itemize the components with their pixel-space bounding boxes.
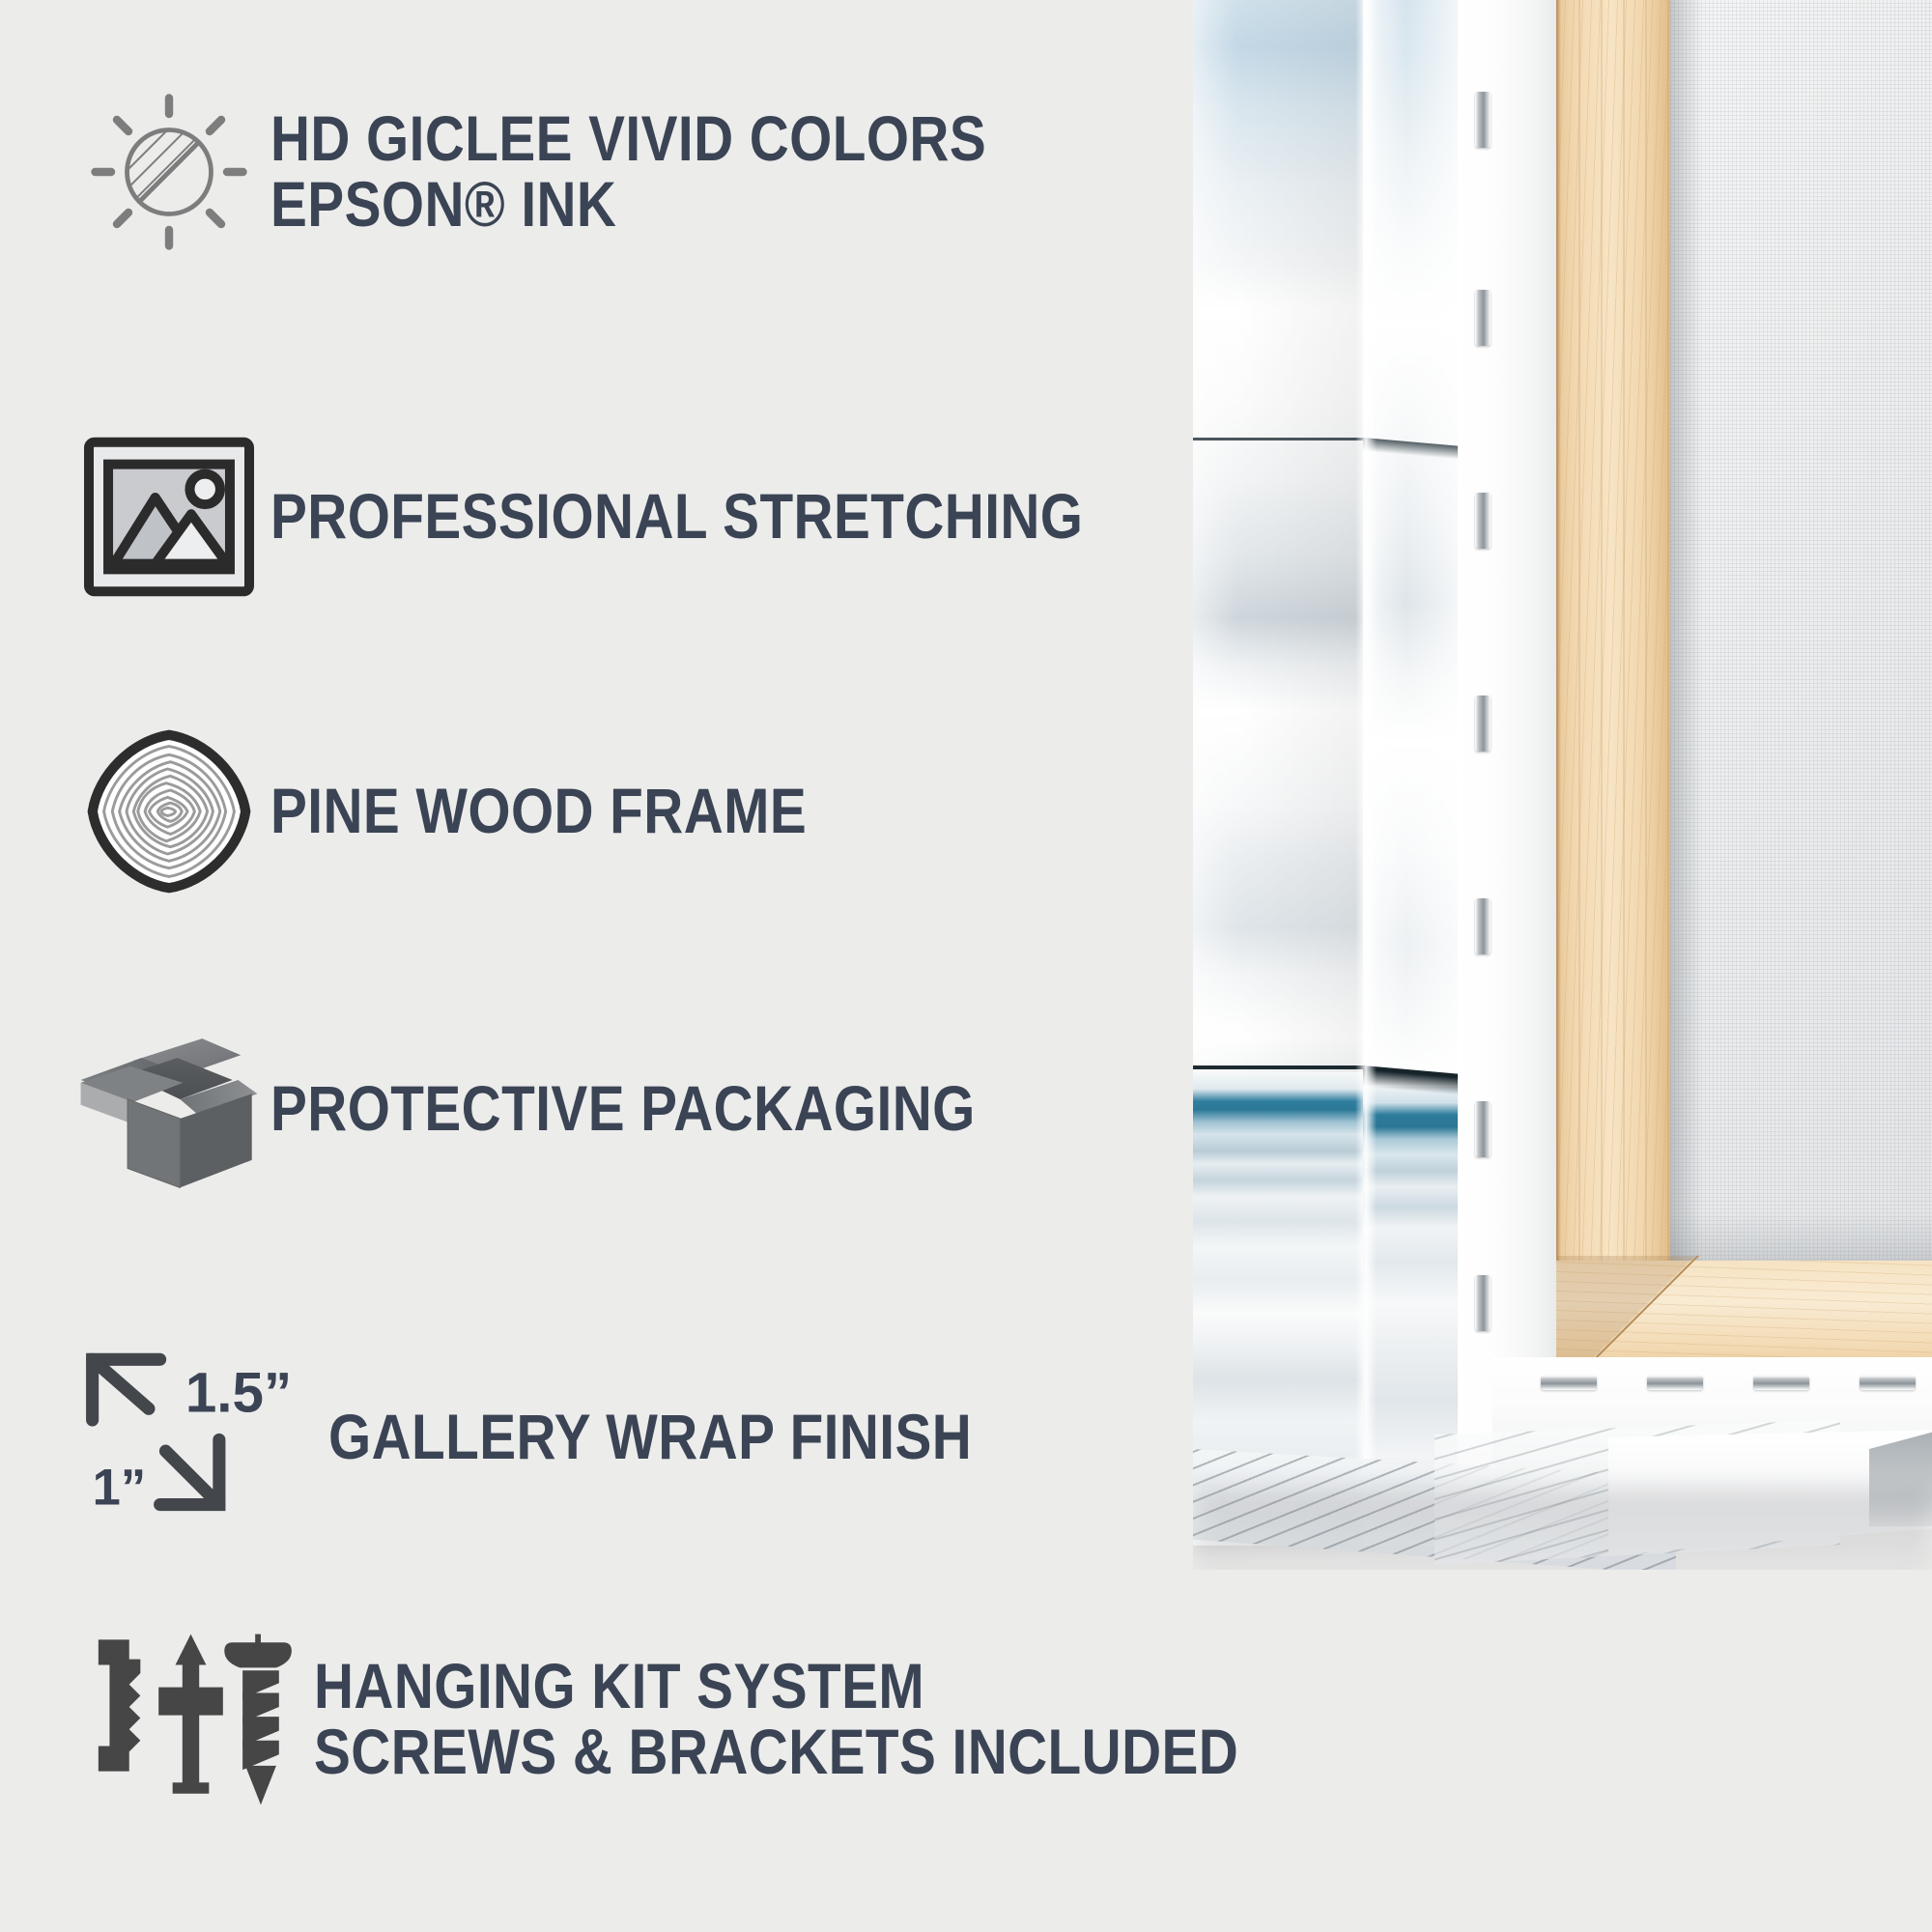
staple: [1860, 1376, 1916, 1390]
artwork-horizon-line-lower: [1193, 1065, 1363, 1069]
staple: [1475, 898, 1491, 954]
artwork-front-lower-band: [1193, 1072, 1363, 1488]
canvas-corner-highlight: [1355, 0, 1377, 1546]
white-canvas-wrap-vertical: [1458, 0, 1556, 1546]
feature-label-line: HD GICLEE VIVID COLORS: [270, 106, 986, 172]
pine-stretcher-bar-vertical: [1556, 0, 1670, 1391]
wrapped-side-lower-band: [1363, 1087, 1458, 1488]
staple: [1753, 1376, 1809, 1390]
staple: [1475, 290, 1491, 346]
backing-inner-shadow-left: [1670, 0, 1703, 1275]
staple: [1541, 1376, 1597, 1390]
feature-row-hanging-kit: HANGING KIT SYSTEM SCREWS & BRACKETS INC…: [68, 1623, 1389, 1816]
depth-label-small: 1”: [93, 1460, 146, 1517]
framed-picture-icon: [68, 437, 270, 597]
feature-labels: HANGING KIT SYSTEM SCREWS & BRACKETS INC…: [314, 1654, 1389, 1785]
tree-rings-icon: [68, 726, 270, 896]
staple: [1475, 1101, 1491, 1157]
staple: [1475, 696, 1491, 752]
pine-bar-inner-edge: [1556, 0, 1561, 1391]
feature-label-line: GALLERY WRAP FINISH: [328, 1405, 972, 1470]
feature-row-professional-stretching: PROFESSIONAL STRETCHING: [68, 437, 1215, 597]
infographic-canvas: HD GICLEE VIVID COLORS EPSON® INK PROFES…: [0, 0, 1932, 1932]
feature-labels: HD GICLEE VIVID COLORS EPSON® INK: [270, 106, 1103, 238]
open-box-icon: [68, 1022, 270, 1196]
photo-bottom-shadow: [1193, 1488, 1932, 1570]
feature-labels: PINE WOOD FRAME: [270, 779, 895, 844]
feature-label-line: HANGING KIT SYSTEM: [314, 1654, 1238, 1719]
feature-label-line: SCREWS & BRACKETS INCLUDED: [314, 1719, 1238, 1785]
feature-label-line: EPSON® INK: [270, 172, 986, 238]
staple: [1475, 493, 1491, 549]
product-photo: [1193, 0, 1932, 1570]
staple: [1475, 1275, 1491, 1331]
feature-list: HD GICLEE VIVID COLORS EPSON® INK PROFES…: [0, 0, 1198, 1932]
depth-label-large: 1.5”: [185, 1361, 292, 1424]
hanging-hardware-icon: [68, 1623, 314, 1816]
staple: [1475, 92, 1491, 148]
feature-row-protective-packaging: PROTECTIVE PACKAGING: [68, 1022, 1091, 1196]
feature-label-line: PROFESSIONAL STRETCHING: [270, 484, 1083, 550]
feature-row-hd-giclee: HD GICLEE VIVID COLORS EPSON® INK: [68, 85, 1103, 259]
depth-arrows-icon: 1.5” 1”: [68, 1352, 328, 1521]
feature-row-pine-wood-frame: PINE WOOD FRAME: [68, 726, 895, 896]
artwork-horizon-line-upper: [1193, 438, 1363, 440]
feature-labels: PROFESSIONAL STRETCHING: [270, 484, 1215, 550]
feature-labels: PROTECTIVE PACKAGING: [270, 1076, 1091, 1142]
feature-label-line: PROTECTIVE PACKAGING: [270, 1076, 976, 1142]
feature-row-gallery-wrap: 1.5” 1” GALLERY WRAP FINISH: [68, 1352, 1077, 1521]
sun-hd-print-icon: [68, 85, 270, 259]
staple: [1647, 1376, 1703, 1390]
canvas-backing-fabric: [1670, 0, 1932, 1275]
feature-labels: GALLERY WRAP FINISH: [328, 1405, 1077, 1470]
feature-label-line: PINE WOOD FRAME: [270, 779, 807, 844]
